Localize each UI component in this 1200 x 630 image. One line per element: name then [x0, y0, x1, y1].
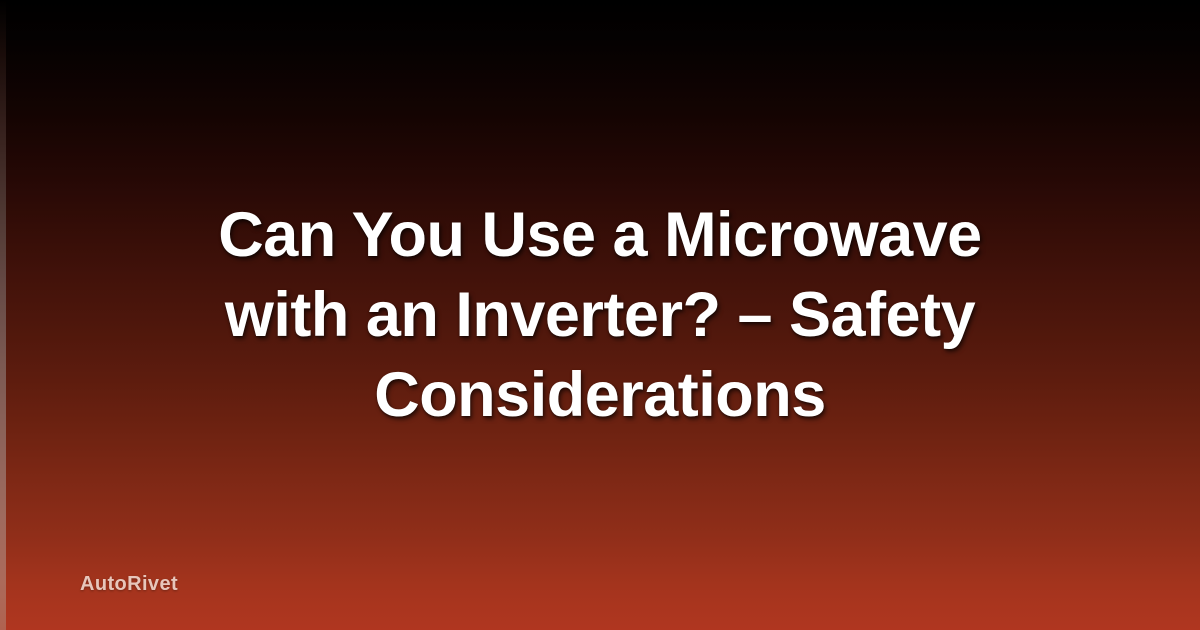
og-share-card: Can You Use a Microwave with an Inverter…	[0, 0, 1200, 630]
card-content: Can You Use a Microwave with an Inverter…	[0, 0, 1200, 630]
page-title: Can You Use a Microwave with an Inverter…	[80, 195, 1120, 435]
brand-logo-text: AutoRivet	[80, 574, 178, 594]
